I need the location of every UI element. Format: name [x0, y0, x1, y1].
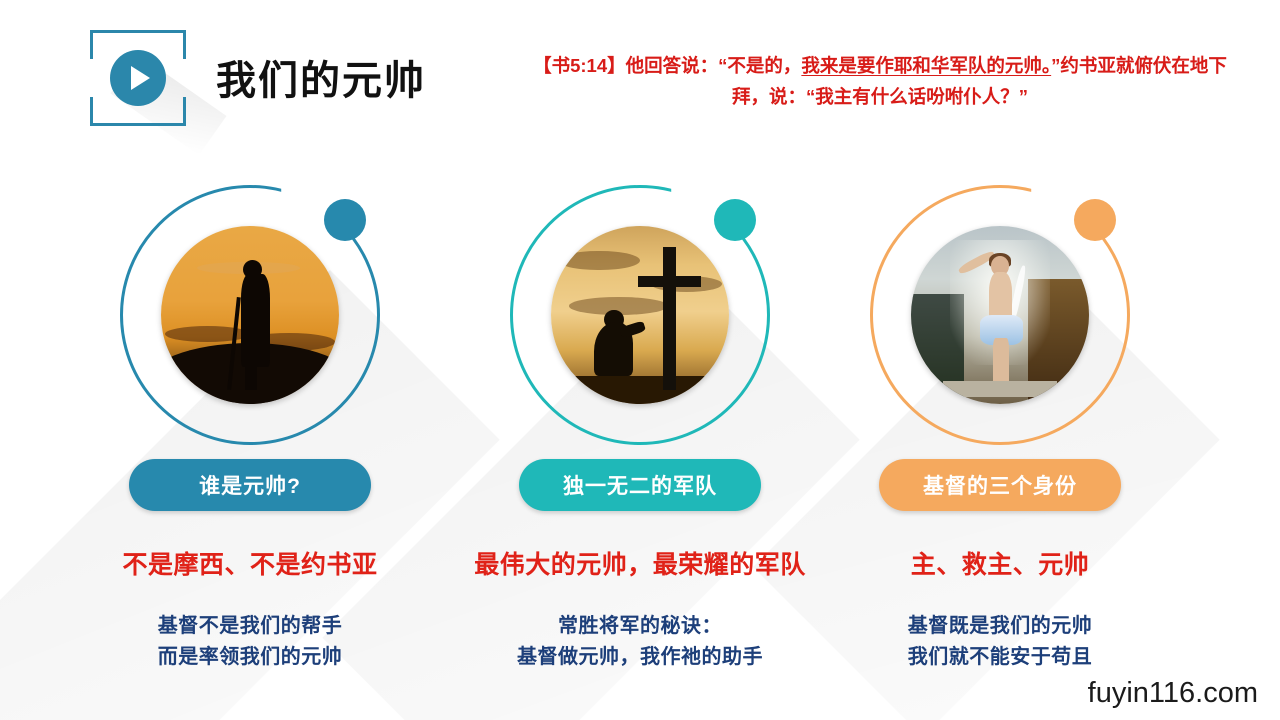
subtext-3: 基督既是我们的元帅 我们就不能安于苟且 [800, 611, 1200, 673]
pill-label-3[interactable]: 基督的三个身份 [879, 459, 1121, 511]
headline-1: 不是摩西、不是约书亚 [50, 545, 450, 581]
slide-header: 我们的元帅 【书5:14】他回答说：“不是的，我来是要作耶和华军队的元帅。”约书… [0, 0, 1280, 145]
photo-art-3 [911, 226, 1089, 404]
subtext-1: 基督不是我们的帮手 而是率领我们的元帅 [50, 611, 450, 673]
headline-2: 最伟大的元帅，最荣耀的军队 [440, 545, 840, 581]
pill-label-2[interactable]: 独一无二的军队 [519, 459, 761, 511]
column-unique-army: 独一无二的军队 最伟大的元帅，最荣耀的军队 常胜将军的秘诀： 基督做元帅，我作祂… [440, 185, 840, 673]
play-button-icon[interactable] [90, 30, 186, 126]
column-three-identities: 基督的三个身份 主、救主、元帅 基督既是我们的元帅 我们就不能安于苟且 [800, 185, 1200, 673]
ring-wrap-3 [870, 185, 1130, 445]
subtext-3-line2: 我们就不能安于苟且 [800, 642, 1200, 673]
scripture-quote: 【书5:14】他回答说：“不是的，我来是要作耶和华军队的元帅。”约书亚就俯伏在地… [530, 50, 1230, 112]
ring-wrap-2 [510, 185, 770, 445]
subtext-2-line2: 基督做元帅，我作祂的助手 [440, 642, 840, 673]
play-triangle-icon [131, 66, 150, 90]
photo-cross-prayer [551, 226, 729, 404]
play-circle [110, 50, 166, 106]
subtext-3-line1: 基督既是我们的元帅 [800, 611, 1200, 642]
pill-label-1[interactable]: 谁是元帅? [129, 459, 371, 511]
page-title: 我们的元帅 [216, 48, 426, 106]
scripture-underlined: 我来是要作耶和华军队的元帅。 [801, 55, 1051, 76]
subtext-2: 常胜将军的秘诀： 基督做元帅，我作祂的助手 [440, 611, 840, 673]
headline-3: 主、救主、元帅 [800, 545, 1200, 581]
scripture-prefix: 【书5:14】他回答说：“不是的， [533, 55, 801, 76]
photo-art-2 [551, 226, 729, 404]
subtext-1-line2: 而是率领我们的元帅 [50, 642, 450, 673]
ring-wrap-1 [120, 185, 380, 445]
column-who-is-commander: 谁是元帅? 不是摩西、不是约书亚 基督不是我们的帮手 而是率领我们的元帅 [50, 185, 450, 673]
subtext-1-line1: 基督不是我们的帮手 [50, 611, 450, 642]
content-columns: 谁是元帅? 不是摩西、不是约书亚 基督不是我们的帮手 而是率领我们的元帅 [0, 185, 1280, 685]
photo-resurrection-painting [911, 226, 1089, 404]
photo-art-1 [161, 226, 339, 404]
site-watermark: fuyin116.com [1088, 677, 1258, 710]
subtext-2-line1: 常胜将军的秘诀： [440, 611, 840, 642]
photo-soldier-silhouette [161, 226, 339, 404]
